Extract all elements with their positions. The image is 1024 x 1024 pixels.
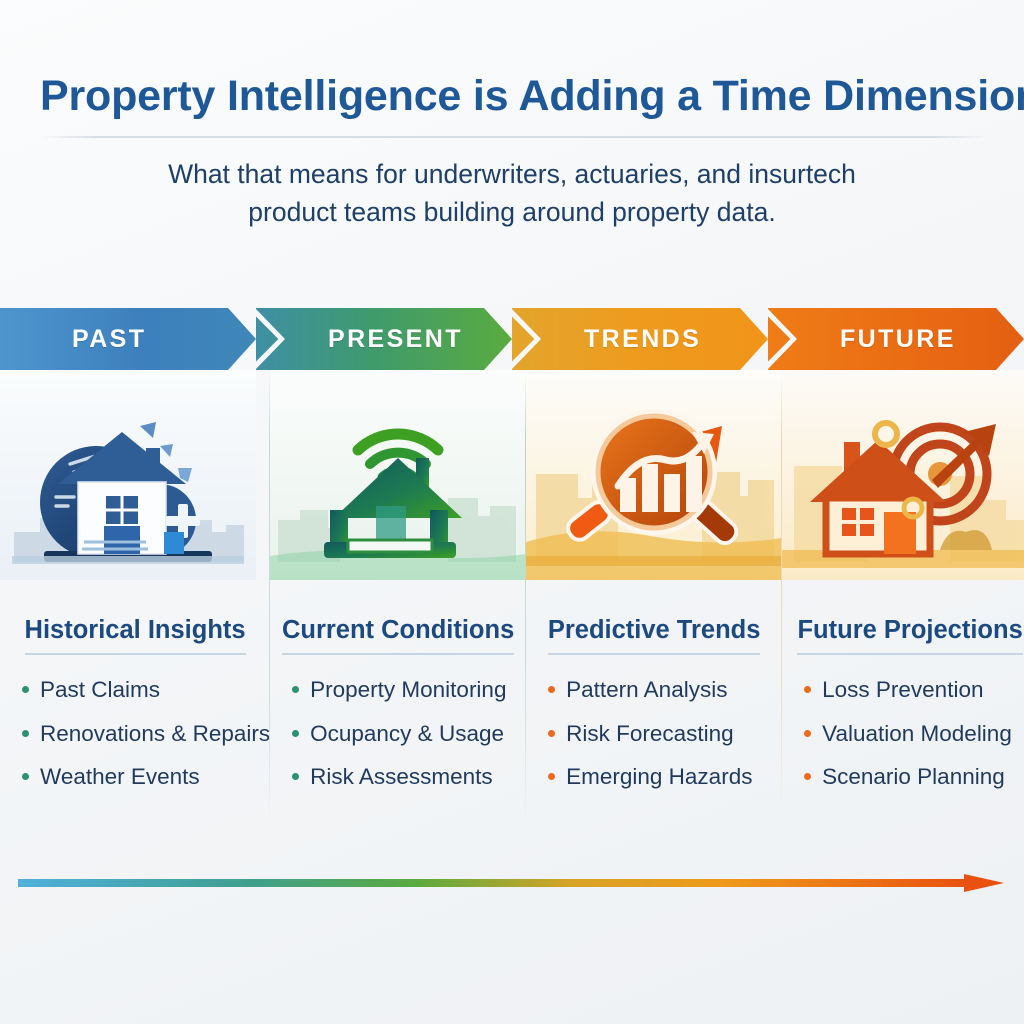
bullet-dot-icon xyxy=(22,686,29,693)
bullet-label: Weather Events xyxy=(40,766,200,789)
phase-chevron-label: PAST xyxy=(0,325,146,354)
bullet-dot-icon xyxy=(292,686,299,693)
phase-column-past: Historical Insights Past Claims Renovati… xyxy=(0,370,270,840)
title-divider xyxy=(40,136,990,138)
bullet-dot-icon xyxy=(548,773,555,780)
phase-banner: PAST PRESENT TRENDS FUTURE xyxy=(0,308,1024,370)
bullet-label: Ocupancy & Usage xyxy=(310,723,504,746)
phase-chevron-past[interactable]: PAST xyxy=(0,308,256,370)
bullet-label: Past Claims xyxy=(40,679,160,702)
bullet-dot-icon xyxy=(548,686,555,693)
bullet-list-past: Past Claims Renovations & Repairs Weathe… xyxy=(0,679,270,789)
phase-chevron-label: PRESENT xyxy=(256,325,463,354)
bullet-list-future: Loss Prevention Valuation Modeling Scena… xyxy=(782,679,1024,789)
column-heading-text: Current Conditions xyxy=(282,616,514,655)
phase-column-trends: Predictive Trends Pattern Analysis Risk … xyxy=(526,370,782,840)
bullet-label: Loss Prevention xyxy=(822,679,983,702)
bullet-dot-icon xyxy=(292,773,299,780)
phase-columns: Historical Insights Past Claims Renovati… xyxy=(0,370,1024,840)
list-item: Renovations & Repairs xyxy=(22,723,270,746)
list-item: Ocupancy & Usage xyxy=(292,723,526,746)
column-heading-trends: Predictive Trends xyxy=(526,616,782,655)
page-subtitle: What that means for underwriters, actuar… xyxy=(132,156,892,231)
phase-chevron-future[interactable]: FUTURE xyxy=(768,308,1024,370)
bullet-dot-icon xyxy=(804,730,811,737)
timeline-arrow xyxy=(18,872,1006,894)
list-item: Weather Events xyxy=(22,766,270,789)
phase-column-present: Current Conditions Property Monitoring O… xyxy=(270,370,526,840)
bullet-label: Emerging Hazards xyxy=(566,766,752,789)
column-heading-future: Future Projections xyxy=(782,616,1024,655)
bullet-list-trends: Pattern Analysis Risk Forecasting Emergi… xyxy=(526,679,782,789)
illustration-trends xyxy=(526,370,782,580)
column-heading-text: Future Projections xyxy=(797,616,1022,655)
list-item: Valuation Modeling xyxy=(804,723,1024,746)
bullet-dot-icon xyxy=(22,773,29,780)
bullet-label: Risk Assessments xyxy=(310,766,493,789)
phase-chevron-present[interactable]: PRESENT xyxy=(256,308,512,370)
illustration-past xyxy=(0,370,270,580)
bullet-label: Property Monitoring xyxy=(310,679,506,702)
bullet-label: Scenario Planning xyxy=(822,766,1005,789)
phase-chevron-label: TRENDS xyxy=(512,325,701,354)
list-item: Past Claims xyxy=(22,679,270,702)
list-item: Emerging Hazards xyxy=(548,766,782,789)
list-item: Risk Assessments xyxy=(292,766,526,789)
header: Property Intelligence is Adding a Time D… xyxy=(0,0,1024,231)
house-with-target-and-dart-icon xyxy=(782,370,1024,580)
list-item: Pattern Analysis xyxy=(548,679,782,702)
illustration-future xyxy=(782,370,1024,580)
phase-chevron-label: FUTURE xyxy=(768,325,956,354)
list-item: Property Monitoring xyxy=(292,679,526,702)
subtitle-line-2: product teams building around property d… xyxy=(132,194,892,232)
column-heading-past: Historical Insights xyxy=(0,616,270,655)
list-item: Scenario Planning xyxy=(804,766,1024,789)
bullet-dot-icon xyxy=(22,730,29,737)
smart-house-with-wifi-signal-icon xyxy=(270,370,526,580)
list-item: Risk Forecasting xyxy=(548,723,782,746)
bullet-label: Pattern Analysis xyxy=(566,679,727,702)
house-with-shield-and-plus-badge-icon xyxy=(0,370,256,580)
list-item: Loss Prevention xyxy=(804,679,1024,702)
column-heading-text: Predictive Trends xyxy=(548,616,761,655)
column-heading-text: Historical Insights xyxy=(25,616,246,655)
illustration-present xyxy=(270,370,526,580)
column-heading-present: Current Conditions xyxy=(270,616,526,655)
phase-column-future: Future Projections Loss Prevention Valua… xyxy=(782,370,1024,840)
bullet-list-present: Property Monitoring Ocupancy & Usage Ris… xyxy=(270,679,526,789)
subtitle-line-1: What that means for underwriters, actuar… xyxy=(132,156,892,194)
page-title: Property Intelligence is Adding a Time D… xyxy=(40,74,984,119)
phase-chevron-trends[interactable]: TRENDS xyxy=(512,308,768,370)
left-to-right-time-arrow-icon xyxy=(18,872,1006,894)
magnifying-glass-with-bar-chart-and-up-arrow-icon xyxy=(526,370,782,580)
bullet-label: Risk Forecasting xyxy=(566,723,734,746)
bullet-dot-icon xyxy=(804,686,811,693)
bullet-dot-icon xyxy=(292,730,299,737)
bullet-label: Valuation Modeling xyxy=(822,723,1012,746)
bullet-dot-icon xyxy=(548,730,555,737)
bullet-dot-icon xyxy=(804,773,811,780)
bullet-label: Renovations & Repairs xyxy=(40,723,270,746)
